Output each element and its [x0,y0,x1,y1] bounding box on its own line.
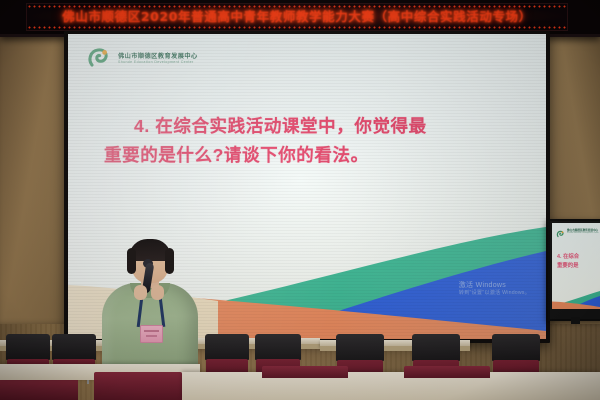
slide-logo: 佛山市顺德区教育发展中心 Shunde Education Developmen… [86,46,198,72]
foreground-chair [404,366,490,378]
badge-text-line [146,335,157,337]
led-border-dots-bottom [27,26,567,29]
wall-panel-left [0,24,72,324]
windows-activation-watermark: 激活 Windows 转到"设置"以激活 Windows。 [459,281,530,297]
chair-backrest [6,334,50,360]
chair-backrest [205,334,249,360]
monitor-stand [571,317,580,324]
monitor-logo-text: 佛山市顺德区教育发展中心 Shunde Education Developmen… [567,228,599,234]
chair-backrest [412,334,460,361]
foreground-chair [262,366,348,378]
monitor-logo: 佛山市顺德区教育发展中心 Shunde Education Developmen… [556,226,599,235]
presenter-hair-left [127,248,136,274]
foreground-chair [94,372,182,400]
monitor-question-line-1: 4. 在综合 [557,253,579,262]
logo-english-name: Shunde Education Development Center [118,61,198,65]
presenter-hair-right [165,248,174,274]
chair-backrest [52,334,96,360]
confidence-monitor-screen: 佛山市顺德区教育发展中心 Shunde Education Developmen… [552,223,600,309]
name-badge [140,325,163,343]
chair-backrest [255,334,301,360]
watermark-line-2: 转到"设置"以激活 Windows。 [459,290,530,297]
chair-backrest [492,334,540,361]
led-banner-text: 佛山市顺德区2020年普通高中青年教师教学能力大赛（高中综合实践活动专场） [27,9,567,24]
monitor-wave-graphic [552,287,600,309]
education-center-leaf-icon [556,226,565,235]
led-border-dots-top [27,5,567,8]
presenter-right-hand [151,285,164,300]
chair-backrest [336,334,384,361]
conference-room-photo: 佛山市顺德区2020年普通高中青年教师教学能力大赛（高中综合实践活动专场） 佛山… [0,0,600,400]
question-line-1: 4. 在综合实践活动课堂中，你觉得最 [98,112,528,141]
slide-logo-text: 佛山市顺德区教育发展中心 Shunde Education Developmen… [118,54,198,65]
question-line-2: 重要的是什么?请谈下你的看法。 [98,141,528,170]
foreground-table-right [182,372,600,400]
monitor-logo-english: Shunde Education Development Center [567,232,599,234]
monitor-logo-chinese: 佛山市顺德区教育发展中心 [567,228,599,232]
monitor-question-text: 4. 在综合 重要的是 [557,253,579,271]
badge-text-line [144,330,159,332]
watermark-line-1: 激活 Windows [459,281,530,290]
education-center-leaf-icon [86,46,112,72]
led-banner-screen: 佛山市顺德区2020年普通高中青年教师教学能力大赛（高中综合实践活动专场） [26,3,568,31]
slide-question-block: 4. 在综合实践活动课堂中，你觉得最 重要的是什么?请谈下你的看法。 [98,112,528,170]
presenter-left-hand [134,285,147,300]
monitor-question-line-2: 重要的是 [557,262,579,271]
confidence-monitor: 佛山市顺德区教育发展中心 Shunde Education Developmen… [548,219,600,321]
foreground-chair [0,378,78,400]
